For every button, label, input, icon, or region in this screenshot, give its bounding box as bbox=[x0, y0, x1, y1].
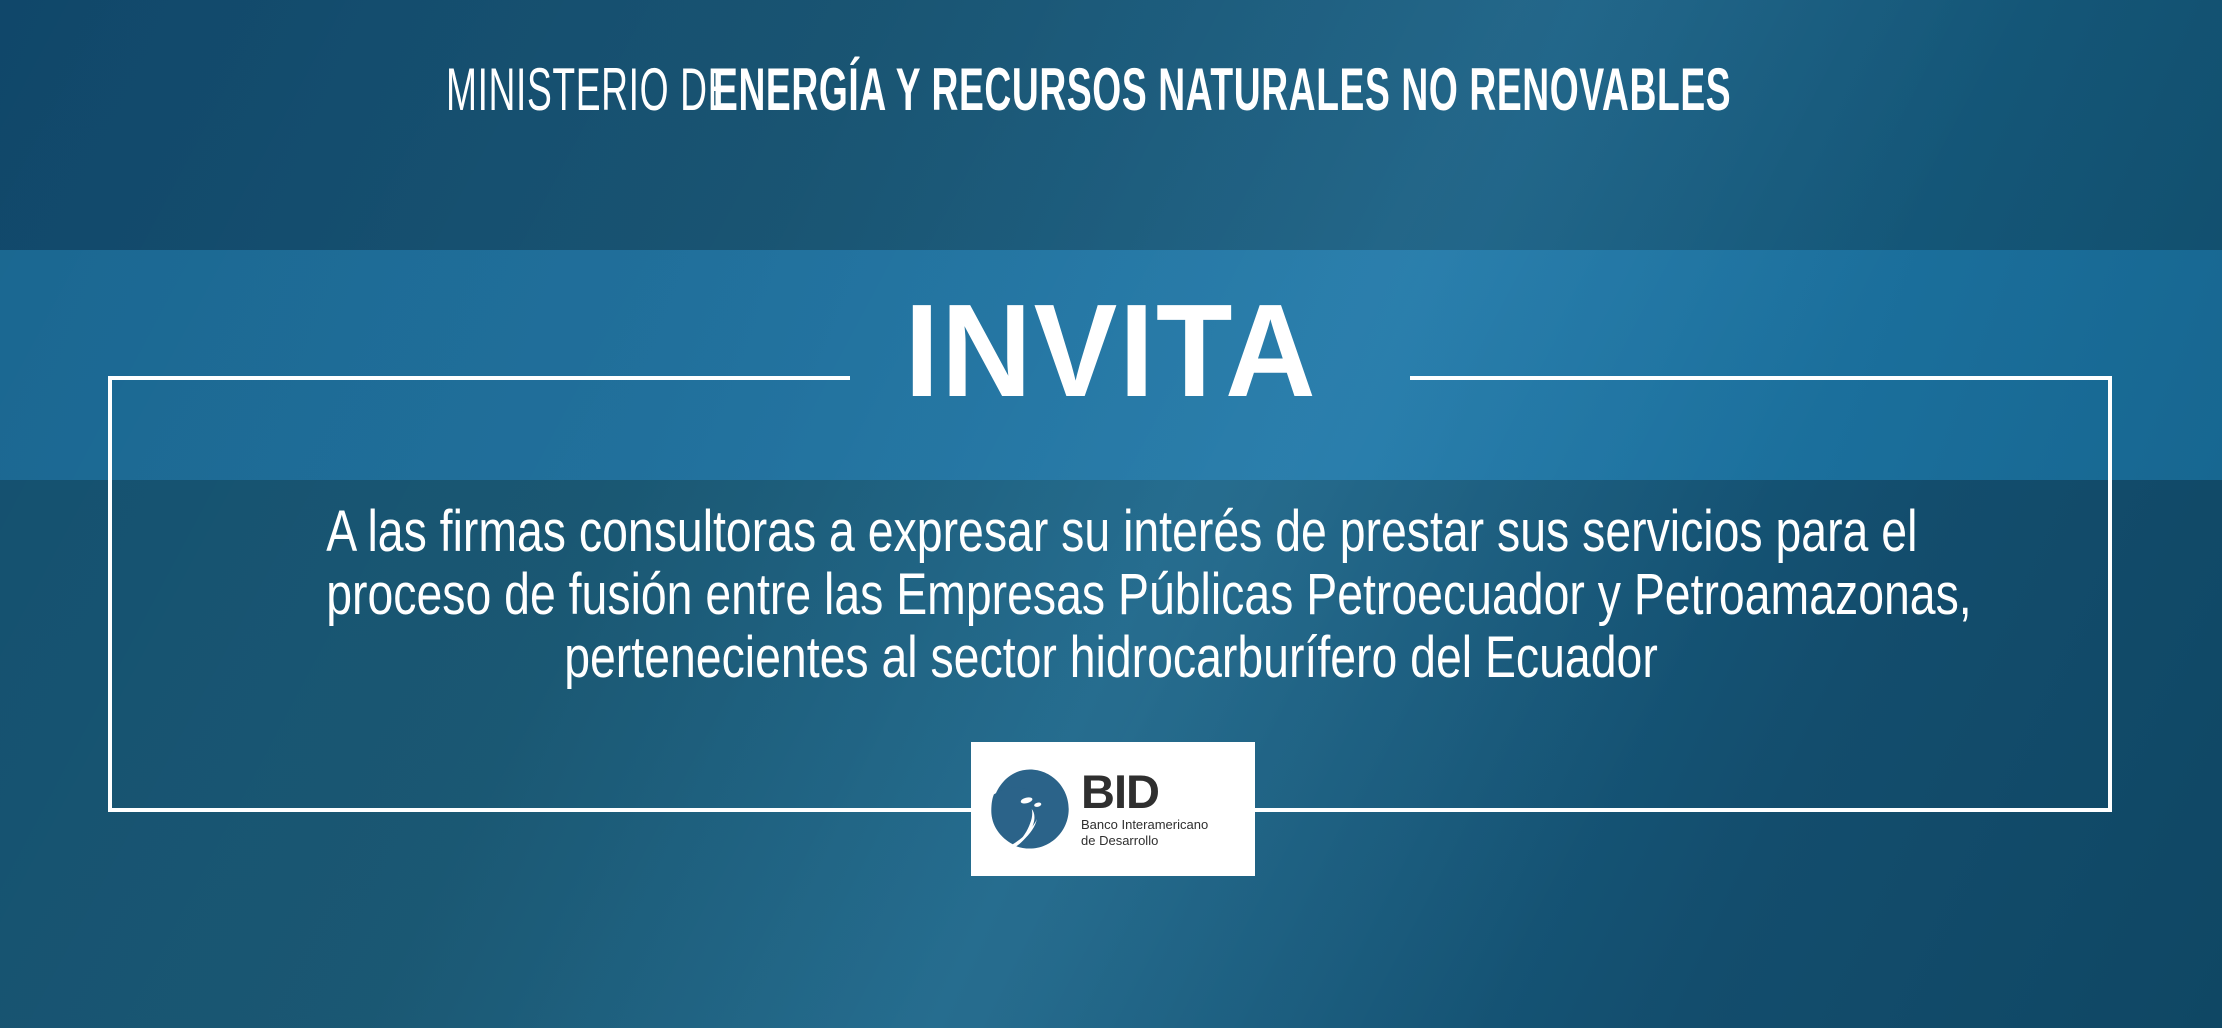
frame-border-left bbox=[108, 376, 112, 812]
background-band-top bbox=[0, 0, 2222, 250]
bid-logo-text: BID Banco Interamericano de Desarrollo bbox=[1081, 770, 1208, 848]
bid-subtitle-line-1: Banco Interamericano bbox=[1081, 817, 1208, 832]
invitation-poster: MINISTERIO DEENERGÍA Y RECURSOS NATURALE… bbox=[0, 0, 2222, 1028]
bid-globe-icon bbox=[987, 766, 1073, 852]
ministry-header-light: MINISTERIO DE bbox=[446, 60, 733, 120]
ministry-header-bold: ENERGÍA Y RECURSOS NATURALES NO RENOVABL… bbox=[713, 60, 1731, 120]
frame-border-right bbox=[2108, 376, 2112, 812]
bid-acronym: BID bbox=[1081, 770, 1208, 813]
bid-logo: BID Banco Interamericano de Desarrollo bbox=[971, 742, 1255, 876]
bid-subtitle: Banco Interamericano de Desarrollo bbox=[1081, 817, 1208, 848]
page-title: INVITA bbox=[56, 285, 2167, 417]
bid-subtitle-line-2: de Desarrollo bbox=[1081, 833, 1208, 848]
body-line-3: pertenecientes al sector hidrocarburífer… bbox=[326, 626, 1896, 689]
ministry-header: MINISTERIO DEENERGÍA Y RECURSOS NATURALE… bbox=[0, 60, 2222, 120]
body-paragraph: A las firmas consultoras a expresar su i… bbox=[130, 500, 2092, 689]
body-line-1: A las firmas consultoras a expresar su i… bbox=[326, 500, 1896, 563]
body-line-2: proceso de fusión entre las Empresas Púb… bbox=[326, 563, 1896, 626]
